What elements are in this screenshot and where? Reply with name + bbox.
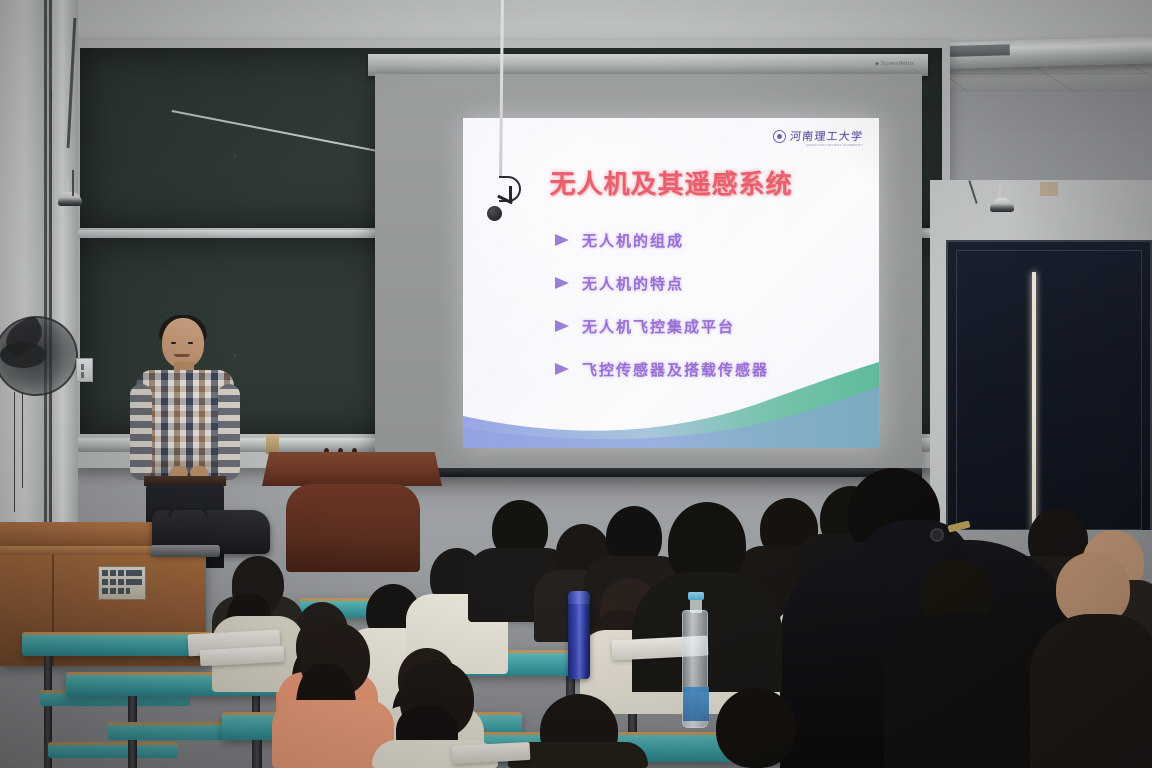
presentation-slide: 河南理工大学 HENAN POLYTECHNIC UNIVERSITY 无人机及… [463,118,879,448]
cup-on-lectern [266,434,279,454]
lecturer-head [162,318,204,368]
university-name-en: HENAN POLYTECHNIC UNIVERSITY [806,143,863,147]
bullet-text: 无人机飞控集成平台 [582,316,735,337]
wall-conduit [49,0,52,560]
arrow-bullet-icon [555,320,571,333]
wall-patch [1040,182,1058,196]
screen-brand-label: ◆ ScreenMatrix [875,61,914,67]
university-name-cn: 河南理工大学 [789,128,864,144]
bag-handle [168,505,208,517]
lectern-top [262,452,442,486]
desk-leg [252,740,262,768]
projection-screen-casing: ◆ ScreenMatrix [368,54,928,76]
list-item: 无人机的组成 [555,230,849,251]
university-seal-icon [773,130,786,143]
wall-pillar-outer [0,0,50,600]
door-panel-inset [956,250,1142,530]
desk-clutter [150,545,220,557]
projection-screen-weight-bar [375,468,922,477]
arrow-bullet-icon [555,277,571,290]
mic-capsule [487,206,502,221]
ceiling-dome-camera-right [990,198,1014,212]
control-panel-sign [98,566,146,600]
thermos-cap [568,591,590,604]
bullet-text: 无人机的组成 [582,230,684,251]
desk-footrest [48,742,178,758]
university-logo: 河南理工大学 HENAN POLYTECHNIC UNIVERSITY [773,128,863,144]
wooden-lectern [262,452,442,570]
camera-cable [72,170,74,196]
blue-thermos-flask [568,591,590,679]
lecturer-arm-left [130,384,152,480]
wall-pillar-inner [52,0,78,556]
wall-mounted-fan [0,316,80,400]
slide-title: 无人机及其遥感系统 [463,164,879,201]
plastic-water-bottle [682,610,708,728]
fan-pull-cord[interactable] [22,392,23,488]
ceiling-hanging-microphone [489,176,523,224]
bottle-label [683,687,709,721]
lecturer-mouth [174,354,190,357]
bullet-text: 无人机的特点 [582,273,684,294]
slide-wave-decoration [463,356,879,448]
power-outlet [76,358,93,382]
arrow-bullet-icon [555,234,571,247]
fan-pull-cord[interactable] [14,392,15,512]
list-item: 无人机飞控集成平台 [555,316,849,337]
lectern-body [286,484,420,572]
wall-conduit [44,0,47,560]
bottle-cap [688,592,704,600]
ceiling-dome-camera-left [58,192,82,206]
projection-screen: 河南理工大学 HENAN POLYTECHNIC UNIVERSITY 无人机及… [375,74,922,474]
bottle-neck [690,598,702,613]
list-item: 无人机的特点 [555,273,849,294]
classroom-door[interactable] [946,240,1152,530]
door-light-gap [1032,272,1036,532]
slide-number: 1 [470,437,473,443]
camera-mount-arm [66,178,69,192]
hood-eyelet [930,528,944,542]
lecturer-arm-right [218,384,240,480]
lecture-hall-photo: ◆ ScreenMatrix 河南理工大学 HENAN POLYTECHNIC … [0,0,1152,768]
